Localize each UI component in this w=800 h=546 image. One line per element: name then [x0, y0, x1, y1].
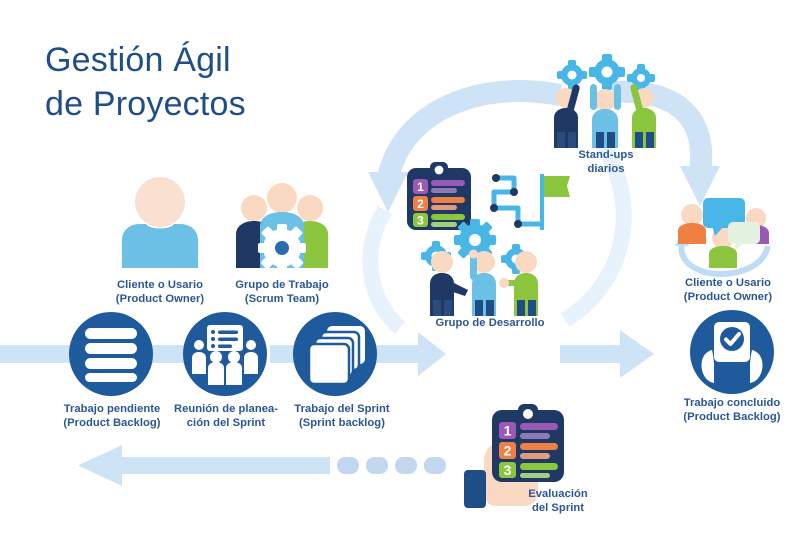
arrow-right-1-icon [370, 332, 446, 376]
svg-text:1: 1 [504, 423, 512, 439]
caption-standups: Stand-ups diarios [544, 148, 668, 176]
stacked-bars-icon[interactable] [69, 312, 153, 396]
development-group-people-icon [422, 250, 550, 316]
caption-dev-team: Grupo de Desarrollo [410, 316, 570, 330]
caption-client-left: Cliente o Usario (Product Owner) [90, 278, 230, 306]
caption-sprint-backlog: Trabajo del Sprint (Sprint backlog) [278, 402, 406, 430]
thumb-cuff [464, 470, 486, 508]
standup-gears-icon [546, 58, 666, 148]
dotted-line-icon [337, 457, 446, 474]
svg-text:2: 2 [504, 443, 512, 459]
caption-client-right: Cliente o Usario (Product Owner) [660, 276, 796, 304]
svg-text:3: 3 [504, 462, 512, 478]
flow-band-left [0, 345, 80, 363]
infographic-canvas: Gestión Ágil de Proyectos [0, 0, 800, 546]
arrow-left-return-icon [78, 445, 330, 486]
people-speech-bubbles-icon [668, 196, 782, 276]
hands-check-document-icon[interactable] [690, 310, 774, 394]
svg-text:1: 1 [417, 180, 424, 194]
caption-product-backlog: Trabajo pendiente (Product Backlog) [44, 402, 180, 430]
caption-scrum-team: Grupo de Trabajo (Scrum Team) [212, 278, 352, 306]
caption-sprint-review: Evaluación del Sprint [498, 487, 618, 515]
caption-done: Trabajo concluido (Product Backlog) [662, 396, 800, 424]
stacked-cards-icon[interactable] [293, 312, 377, 396]
team-gear-icon [232, 182, 332, 268]
meeting-board-icon[interactable] [183, 312, 267, 396]
svg-text:2: 2 [417, 197, 424, 211]
arrow-right-2-icon [560, 330, 654, 378]
caption-sprint-planning: Reunión de planea- ción del Sprint [162, 402, 290, 430]
person-avatar-icon [116, 176, 204, 268]
inner-arc-decoration-2 [370, 210, 400, 328]
